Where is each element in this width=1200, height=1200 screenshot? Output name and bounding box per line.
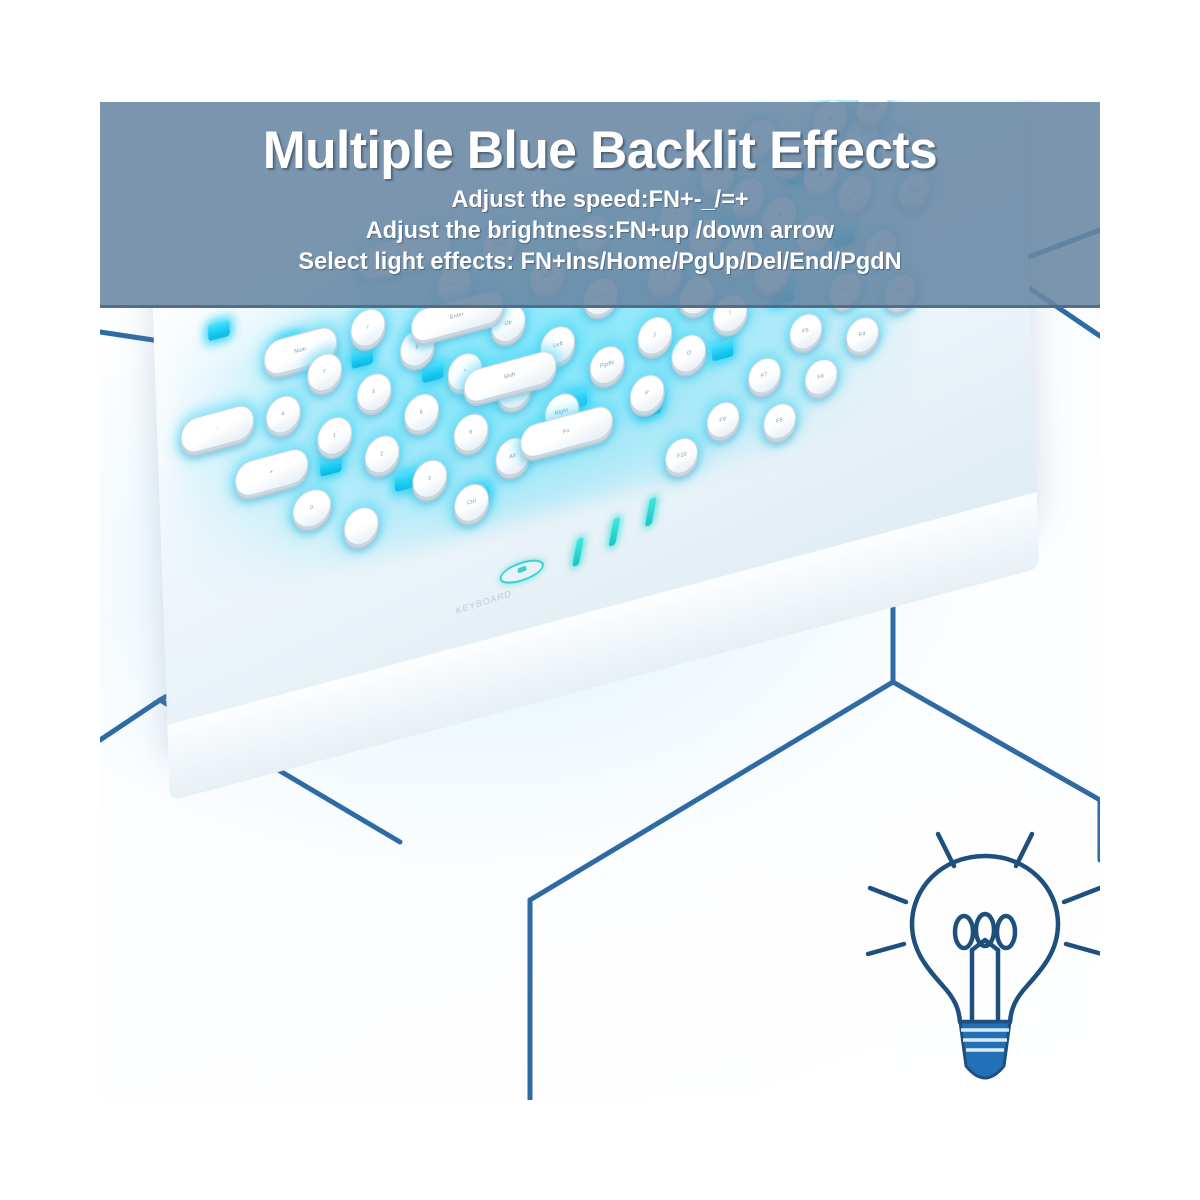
instruction-line-speed: Adjust the speed:FN+-_/=+ (110, 184, 1090, 215)
instruction-line-effects: Select light effects: FN+Ins/Home/PgUp/D… (110, 246, 1090, 277)
bulb-ray (938, 834, 954, 866)
page-title: Multiple Blue Backlit Effects (115, 102, 1085, 177)
bulb-filament-coil (997, 916, 1015, 948)
instruction-lines: Adjust the speed:FN+-_/=+ Adjust the bri… (100, 177, 1100, 278)
bulb-ray (868, 944, 904, 954)
bulb-filament-coil (955, 916, 973, 948)
bulb-screw-base (960, 1022, 1010, 1078)
bulb-ray (1066, 944, 1100, 954)
instruction-line-brightness: Adjust the brightness:FN+up /down arrow (110, 215, 1090, 246)
headline-banner: Multiple Blue Backlit Effects Adjust the… (100, 102, 1100, 308)
bulb-ray (1064, 888, 1100, 902)
bulb-ray (870, 888, 906, 902)
bulb-ray (1016, 834, 1032, 866)
product-marketing-image: - + Num 4 7 1 5 2 6 / 8 3 0 . * 9 (0, 0, 1200, 1200)
idea-light-bulb-icon (860, 790, 1100, 1100)
